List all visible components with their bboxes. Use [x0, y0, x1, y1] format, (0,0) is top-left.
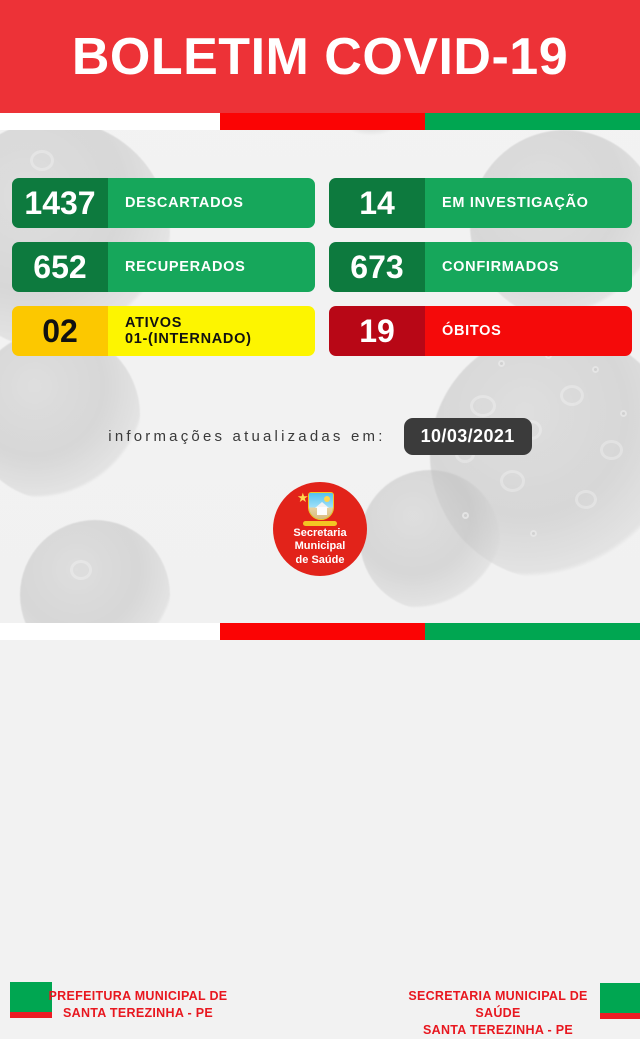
org-left-line2: SANTA TEREZINHA - PE: [28, 1005, 248, 1022]
stat-label: EM INVESTIGAÇÃO: [442, 195, 632, 211]
stat-label: CONFIRMADOS: [442, 259, 632, 275]
house-icon: [317, 507, 327, 515]
stat-number: 02: [12, 306, 108, 356]
org-left-line1: PREFEITURA MUNICIPAL DE: [28, 988, 248, 1005]
stat-sublabel: 01-(INTERNADO): [125, 331, 315, 347]
logo-line-3: de Saúde: [293, 554, 346, 567]
stripe-bar-bottom: [0, 623, 640, 640]
logo-text: Secretaria Municipal de Saúde: [293, 527, 346, 567]
stat-card-ativos: 02 ATIVOS 01-(INTERNADO): [12, 306, 315, 356]
stat-label: ATIVOS: [125, 315, 315, 331]
stripe-segment-white: [0, 113, 220, 130]
stripe-segment-red: [220, 623, 425, 640]
page-title: BOLETIM COVID-19: [72, 31, 568, 83]
stat-label-group: CONFIRMADOS: [425, 242, 632, 292]
org-name-right: SECRETARIA MUNICIPAL DE SAÚDE SANTA TERE…: [388, 988, 608, 1039]
date-badge: 10/03/2021: [404, 418, 532, 455]
stat-label-group: EM INVESTIGAÇÃO: [425, 178, 632, 228]
stripe-segment-white: [0, 623, 220, 640]
stat-label-group: RECUPERADOS: [108, 242, 315, 292]
crest-banner: [303, 521, 337, 526]
secretaria-saude-logo: ★ Secretaria Municipal de Saúde: [273, 482, 367, 576]
stat-card-confirmados: 673 CONFIRMADOS: [329, 242, 632, 292]
stripe-bar-top: [0, 113, 640, 130]
org-right-line1: SECRETARIA MUNICIPAL DE SAÚDE: [388, 988, 608, 1022]
org-right-line2: SANTA TEREZINHA - PE: [388, 1022, 608, 1039]
stat-label-group: DESCARTADOS: [108, 178, 315, 228]
stat-number: 1437: [12, 178, 108, 228]
updated-label: informações atualizadas em:: [108, 428, 385, 445]
stat-number: 14: [329, 178, 425, 228]
header-banner: BOLETIM COVID-19: [0, 0, 640, 113]
stat-number: 673: [329, 242, 425, 292]
stripe-segment-green: [425, 623, 640, 640]
stripe-segment-red: [220, 113, 425, 130]
logo-line-1: Secretaria: [293, 527, 346, 540]
stat-label: RECUPERADOS: [125, 259, 315, 275]
stat-label-group: ÓBITOS: [425, 306, 632, 356]
stat-number: 19: [329, 306, 425, 356]
updated-row: informações atualizadas em: 10/03/2021: [0, 418, 640, 455]
stat-number: 652: [12, 242, 108, 292]
stat-card-descartados: 1437 DESCARTADOS: [12, 178, 315, 228]
shield-icon: [308, 492, 334, 520]
org-name-left: PREFEITURA MUNICIPAL DE SANTA TEREZINHA …: [28, 988, 248, 1022]
stat-card-em-investigacao: 14 EM INVESTIGAÇÃO: [329, 178, 632, 228]
stripe-segment-green: [425, 113, 640, 130]
stats-grid: 1437 DESCARTADOS 14 EM INVESTIGAÇÃO 652 …: [12, 178, 632, 356]
coat-of-arms-icon: ★: [297, 490, 343, 524]
star-icon: ★: [297, 491, 309, 504]
stat-card-recuperados: 652 RECUPERADOS: [12, 242, 315, 292]
stat-label: ÓBITOS: [442, 323, 632, 339]
stat-label-group: ATIVOS 01-(INTERNADO): [108, 306, 315, 356]
stat-label: DESCARTADOS: [125, 195, 315, 211]
logo-line-2: Municipal: [293, 540, 346, 553]
stat-card-obitos: 19 ÓBITOS: [329, 306, 632, 356]
